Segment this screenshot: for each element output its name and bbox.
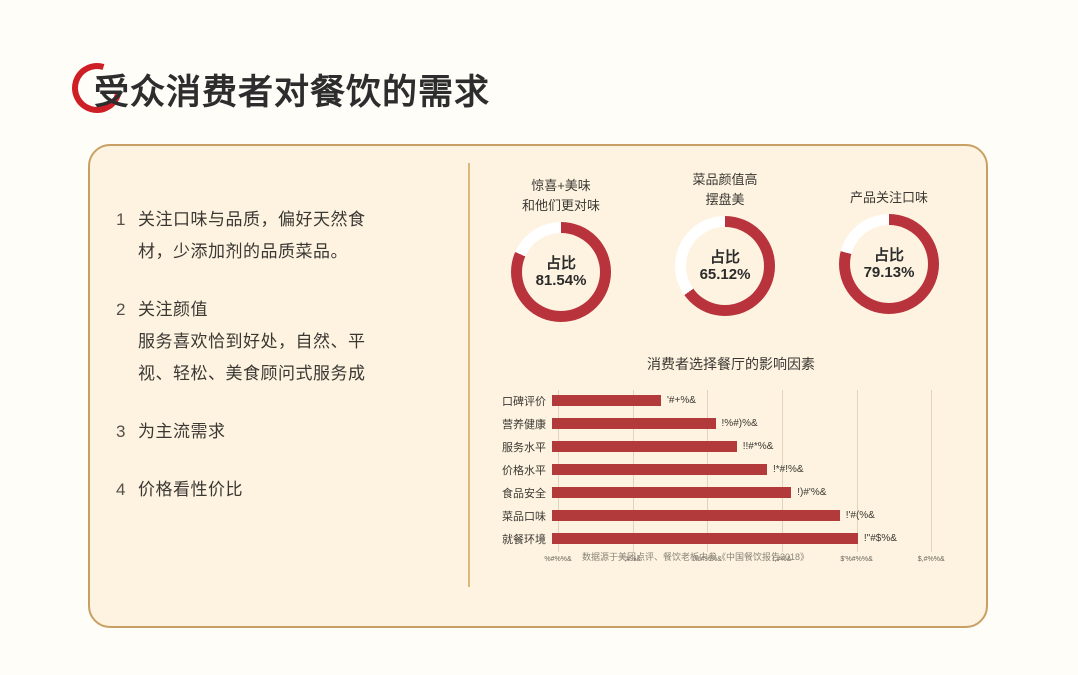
bar-chart-row: 就餐环境!"#$%& xyxy=(486,528,976,549)
bar-category-label: 食品安全 xyxy=(486,485,552,501)
bar-chart-row: 食品安全!)#'%& xyxy=(486,482,976,503)
bar-container: '#+%& xyxy=(552,390,976,411)
donut-ring: 占比 81.54% xyxy=(511,222,611,322)
page-title: 受众消费者对餐饮的需求 xyxy=(94,64,490,115)
bar-container: !!#*%& xyxy=(552,436,976,457)
bar-chart-row: 服务水平!!#*%& xyxy=(486,436,976,457)
bar-chart-row: 营养健康!%#)%& xyxy=(486,413,976,434)
list-item-line: 服务喜欢恰到好处，自然、平 xyxy=(138,326,446,358)
donut-label: 占比 xyxy=(874,247,904,264)
donut-caption-line: 摆盘美 xyxy=(650,190,800,210)
bar-data-label: !'#(%& xyxy=(846,510,875,521)
donut-caption: 菜品颜值高 摆盘美 xyxy=(650,170,800,210)
donut-chart-group: 惊喜+美味 和他们更对味 占比 81.54% 菜品颜值高 摆盘美 占比 65.1… xyxy=(486,170,970,358)
bar-chart-title: 消费者选择餐厅的影响因素 xyxy=(486,354,976,374)
donut-center: 占比 65.12% xyxy=(686,227,764,305)
bar xyxy=(552,510,840,521)
donut-caption: 惊喜+美味 和他们更对味 xyxy=(486,176,636,216)
page-title-group: 受众消费者对餐饮的需求 xyxy=(72,56,490,122)
bar xyxy=(552,533,858,544)
donut-caption-line: 菜品颜值高 xyxy=(650,170,800,190)
list-item-number: 2 xyxy=(116,294,138,390)
list-item-line: 价格看性价比 xyxy=(138,474,446,506)
bar xyxy=(552,395,661,406)
influence-factors-bar-chart: 消费者选择餐厅的影响因素 口碑评价'#+%&营养健康!%#)%&服务水平!!#*… xyxy=(486,354,976,584)
bar-chart-row: 菜品口味!'#(%& xyxy=(486,505,976,526)
donut-caption-line: 惊喜+美味 xyxy=(486,176,636,196)
list-item-body: 价格看性价比 xyxy=(138,474,446,506)
bar-data-label: !*#!%& xyxy=(773,464,804,475)
bar-container: !)#'%& xyxy=(552,482,976,503)
bar-data-label: '#+%& xyxy=(667,395,696,406)
bar xyxy=(552,418,716,429)
list-item-body: 关注口味与品质，偏好天然食 材，少添加剂的品质菜品。 xyxy=(138,204,446,268)
bar-chart-row: 价格水平!*#!%& xyxy=(486,459,976,480)
bar-data-label: !"#$%& xyxy=(864,533,897,544)
donut-label: 占比 xyxy=(710,249,740,266)
list-item: 3 为主流需求 xyxy=(116,416,446,448)
list-item-body: 关注颜值 服务喜欢恰到好处，自然、平 视、轻松、美食顾问式服务成 xyxy=(138,294,446,390)
bar-container: !"#$%& xyxy=(552,528,976,549)
list-item-line: 材，少添加剂的品质菜品。 xyxy=(138,236,446,268)
bar-category-label: 服务水平 xyxy=(486,439,552,455)
list-item-body: 为主流需求 xyxy=(138,416,446,448)
donut-value: 79.13% xyxy=(864,264,915,282)
list-item-number: 3 xyxy=(116,416,138,448)
bar xyxy=(552,487,791,498)
bar-container: !%#)%& xyxy=(552,413,976,434)
donut-caption: 产品关注口味 xyxy=(814,188,964,208)
bar-category-label: 营养健康 xyxy=(486,416,552,432)
list-item: 2 关注颜值 服务喜欢恰到好处，自然、平 视、轻松、美食顾问式服务成 xyxy=(116,294,446,390)
donut-value: 81.54% xyxy=(536,272,587,290)
donut-label: 占比 xyxy=(546,255,576,272)
bar-data-label: !)#'%& xyxy=(797,487,826,498)
bar-category-label: 菜品口味 xyxy=(486,508,552,524)
donut-center: 占比 81.54% xyxy=(522,233,600,311)
x-axis-tick-label: $,#%%& xyxy=(918,556,945,563)
donut-center: 占比 79.13% xyxy=(850,225,928,303)
bar-category-label: 价格水平 xyxy=(486,462,552,478)
donut-chart: 菜品颜值高 摆盘美 占比 65.12% xyxy=(650,170,800,316)
list-item: 1 关注口味与品质，偏好天然食 材，少添加剂的品质菜品。 xyxy=(116,204,446,268)
bar xyxy=(552,464,767,475)
list-item-number: 4 xyxy=(116,474,138,506)
bar-chart-source-note: 数据源于美团点评、餐饮老板内参《中国餐饮报告2018》 xyxy=(582,550,809,563)
list-item: 4 价格看性价比 xyxy=(116,474,446,506)
list-item-number: 1 xyxy=(116,204,138,268)
bar-chart-rows: 口碑评价'#+%&营养健康!%#)%&服务水平!!#*%&价格水平!*#!%&食… xyxy=(486,390,976,551)
bar-category-label: 就餐环境 xyxy=(486,531,552,547)
bar-chart-plot: 口碑评价'#+%&营养健康!%#)%&服务水平!!#*%&价格水平!*#!%&食… xyxy=(486,390,976,552)
bar-container: !*#!%& xyxy=(552,459,976,480)
donut-chart: 产品关注口味 占比 79.13% xyxy=(814,188,964,314)
requirements-list: 1 关注口味与品质，偏好天然食 材，少添加剂的品质菜品。 2 关注颜值 服务喜欢… xyxy=(116,204,446,532)
content-card: 1 关注口味与品质，偏好天然食 材，少添加剂的品质菜品。 2 关注颜值 服务喜欢… xyxy=(88,144,988,628)
bar-data-label: !%#)%& xyxy=(722,418,758,429)
donut-chart: 惊喜+美味 和他们更对味 占比 81.54% xyxy=(486,176,636,322)
list-item-line: 为主流需求 xyxy=(138,416,446,448)
list-item-line: 关注颜值 xyxy=(138,294,446,326)
x-axis-tick-label: $'%#%%& xyxy=(840,556,872,563)
donut-value: 65.12% xyxy=(700,266,751,284)
bar xyxy=(552,441,737,452)
list-item-line: 关注口味与品质，偏好天然食 xyxy=(138,204,446,236)
bar-category-label: 口碑评价 xyxy=(486,393,552,409)
donut-caption-line: 和他们更对味 xyxy=(486,196,636,216)
bar-data-label: !!#*%& xyxy=(743,441,774,452)
panel-divider xyxy=(468,163,470,587)
bar-chart-row: 口碑评价'#+%& xyxy=(486,390,976,411)
bar-container: !'#(%& xyxy=(552,505,976,526)
donut-caption-line: 产品关注口味 xyxy=(814,188,964,208)
donut-ring: 占比 79.13% xyxy=(839,214,939,314)
x-axis-tick-label: %#%%& xyxy=(544,556,571,563)
donut-ring: 占比 65.12% xyxy=(675,216,775,316)
list-item-line: 视、轻松、美食顾问式服务成 xyxy=(138,358,446,390)
